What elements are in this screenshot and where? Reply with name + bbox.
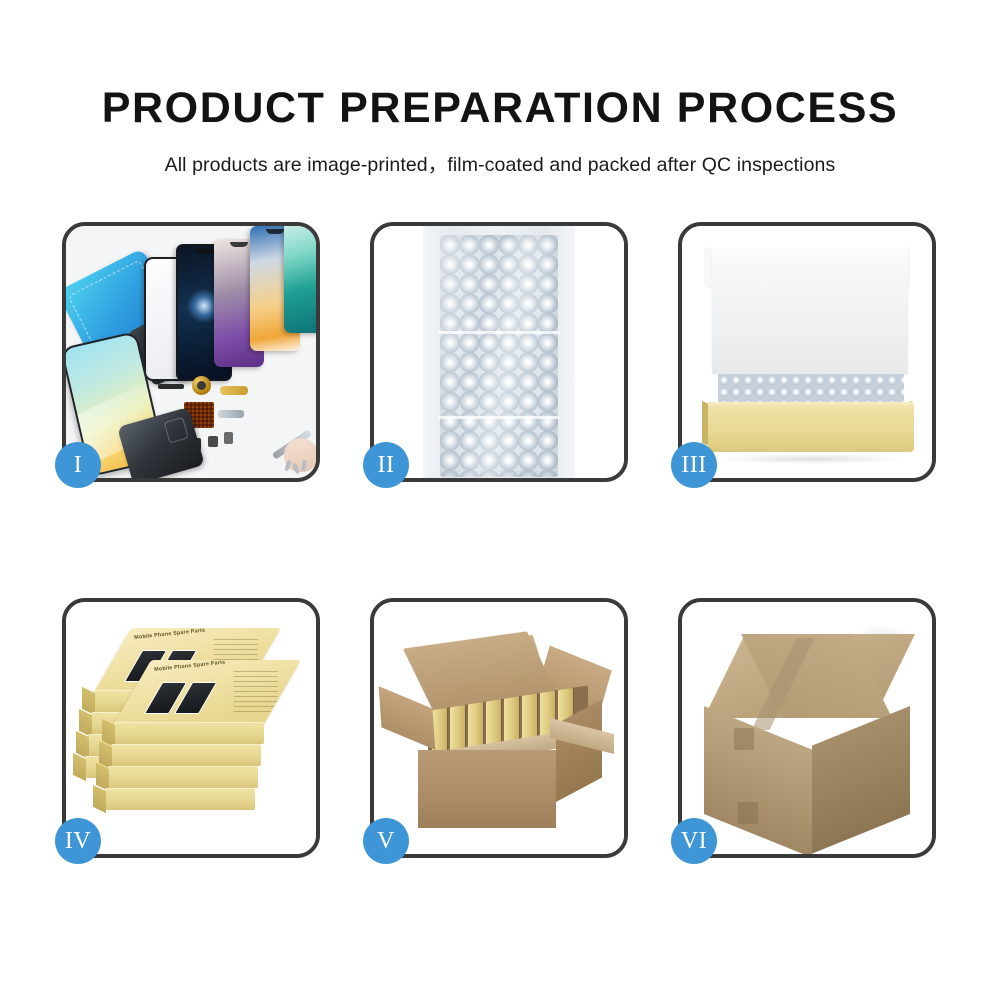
scene-carton-sealed [682,602,932,854]
box-spec-text-front [234,668,278,712]
scene-bubble-wrap [374,226,624,478]
drop-shadow [716,454,906,464]
stacked-box [111,744,261,766]
plastic-sheen [440,235,558,477]
scene-carton-loading [374,602,624,854]
stacked-box [114,722,264,744]
vibrator-icon [208,436,218,447]
carton-handle-tab-lower [738,802,758,824]
antenna-bar-icon [158,384,184,389]
step-badge-6: VI [671,818,717,864]
carton-front-face [704,706,812,854]
screws-icon [286,460,308,476]
step-panel-carton-loading[interactable]: V [370,598,628,858]
process-row-top: I II [62,222,954,482]
carton-handle-tab-upper [734,728,754,750]
step-panel-products[interactable]: I [62,222,320,482]
step-badge-3: III [671,442,717,488]
connector-icon [218,410,244,418]
yellow-tray-icon [708,408,914,452]
step-panel-box-stacks[interactable]: Mobile Phone Spare Parts Mobi [62,598,320,858]
page-title: PRODUCT PREPARATION PROCESS [0,86,1000,131]
header: PRODUCT PREPARATION PROCESS All products… [0,86,1000,177]
box-label-front: Mobile Phone Spare Parts [154,660,226,673]
step-badge-4: IV [55,818,101,864]
stacked-box [105,788,255,810]
infographic-root: PRODUCT PREPARATION PROCESS All products… [0,0,1000,1000]
step-badge-1: I [55,442,101,488]
step-panel-bubble-wrap[interactable]: II [370,222,628,482]
box-lid-icon [712,248,908,374]
flex-cable-icon [220,386,248,395]
step-badge-5: V [363,818,409,864]
button-part-icon [224,432,233,444]
phone-teal-icon [284,226,316,333]
carton-front-face [418,750,556,828]
carton-side-face [812,706,910,854]
scene-inner-box [682,226,932,478]
scene-products [66,226,316,478]
step-panel-carton-sealed[interactable]: VI [678,598,936,858]
box-label-back: Mobile Phone Spare Parts [134,628,206,641]
wrap-seam-lower [438,416,560,419]
process-grid: I II [62,222,954,858]
scene-box-stacks: Mobile Phone Spare Parts Mobi [66,602,316,854]
speaker-coil-icon [192,376,211,395]
page-subtitle: All products are image-printed，film-coat… [0,148,1000,177]
phone-lineup [144,236,316,381]
stacked-box [108,766,258,788]
step-badge-2: II [363,442,409,488]
wrap-seam-upper [438,331,560,334]
step-panel-inner-box[interactable]: III [678,222,936,482]
process-row-bottom: Mobile Phone Spare Parts Mobi [62,598,954,858]
